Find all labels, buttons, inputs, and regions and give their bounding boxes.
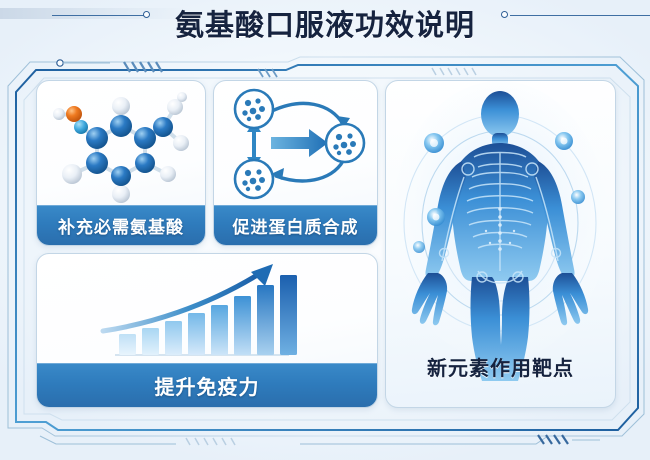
header-rule-right [510, 15, 650, 16]
card-label-promote-protein-synthesis: 促进蛋白质合成 [214, 205, 377, 245]
panel-new-element-target[interactable]: 新元素作用靶点 [385, 80, 616, 408]
card-label-supplement-amino-acids: 补充必需氨基酸 [37, 205, 205, 245]
panel-label-new-element-target: 新元素作用靶点 [386, 352, 615, 381]
header-dot-right-icon [501, 11, 508, 18]
infographic-root: 氨基酸口服液功效说明 [0, 0, 650, 460]
card-label-boost-immunity: 提升免疫力 [37, 363, 377, 407]
header-dot-left-icon [143, 11, 150, 18]
human-body-xray-icon [386, 81, 615, 381]
card-promote-protein-synthesis[interactable]: 促进蛋白质合成 [213, 80, 378, 246]
protein-synthesis-icon [214, 81, 377, 205]
amino-acid-molecule-icon [37, 81, 205, 205]
page-title: 氨基酸口服液功效说明 [175, 2, 475, 44]
header-rule-left [52, 15, 144, 16]
header: 氨基酸口服液功效说明 [0, 0, 650, 52]
card-supplement-amino-acids[interactable]: 补充必需氨基酸 [36, 80, 206, 246]
card-boost-immunity[interactable]: 提升免疫力 [36, 253, 378, 408]
header-smear-decor [0, 8, 190, 19]
growth-bar-chart-icon [37, 254, 377, 363]
